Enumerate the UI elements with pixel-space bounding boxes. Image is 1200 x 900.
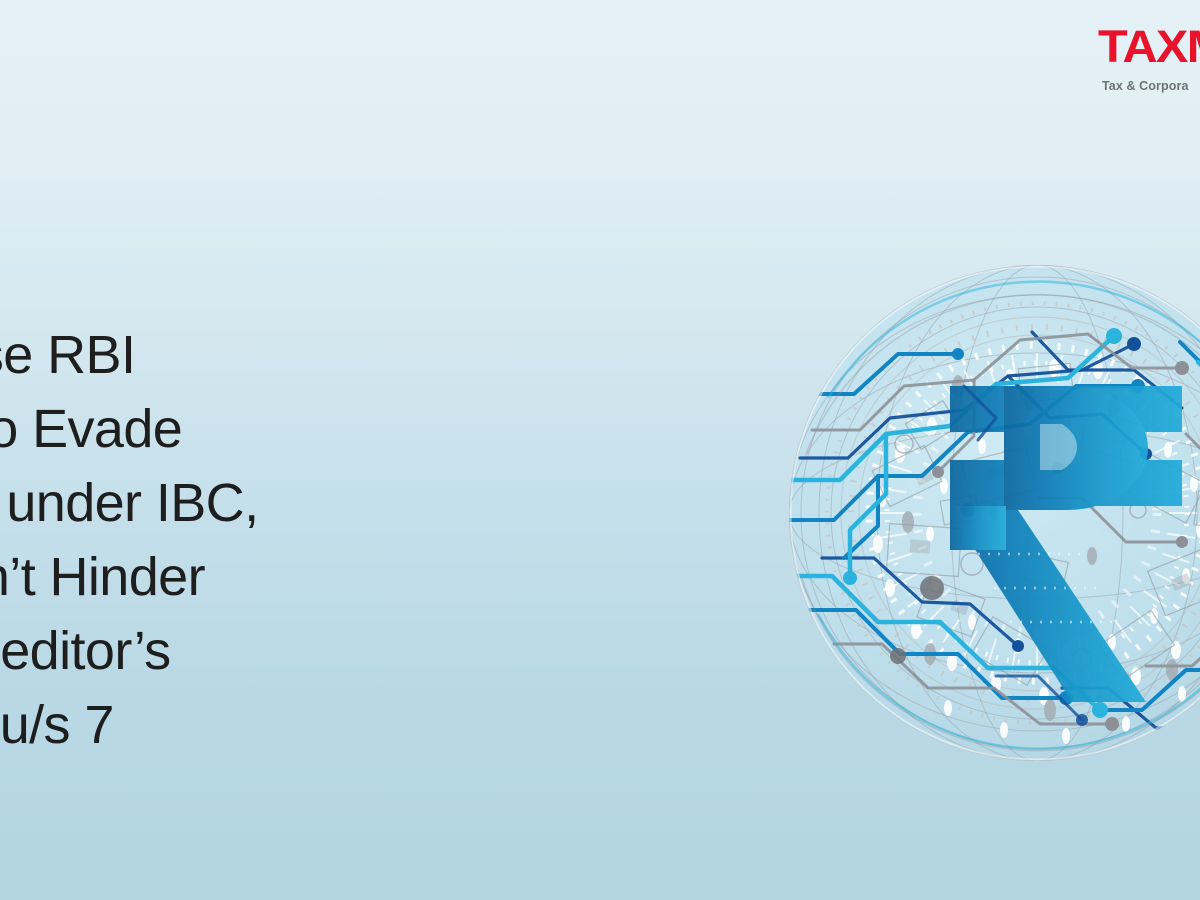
headline: can’t use RBI ctions to Evade gations un… — [0, 318, 620, 762]
headline-line: ncial Creditor’s — [0, 614, 620, 688]
headline-line: ular can’t Hinder — [0, 540, 620, 614]
brand-tagline: Tax & Corpora — [1102, 80, 1200, 93]
headline-line: can’t use RBI — [0, 318, 620, 392]
brand-logo: TAXM Tax & Corpora — [1098, 24, 1200, 93]
headline-line: ctions to Evade — [0, 392, 620, 466]
news-card: TAXM Tax & Corpora can’t use RBI ctions … — [0, 0, 1200, 900]
headline-line: lication u/s 7 — [0, 688, 620, 762]
brand-wordmark: TAXM — [1098, 24, 1200, 69]
headline-line: gations under IBC, — [0, 466, 620, 540]
rupee-globe-illustration — [782, 258, 1200, 768]
rupee-symbol — [950, 386, 1182, 702]
